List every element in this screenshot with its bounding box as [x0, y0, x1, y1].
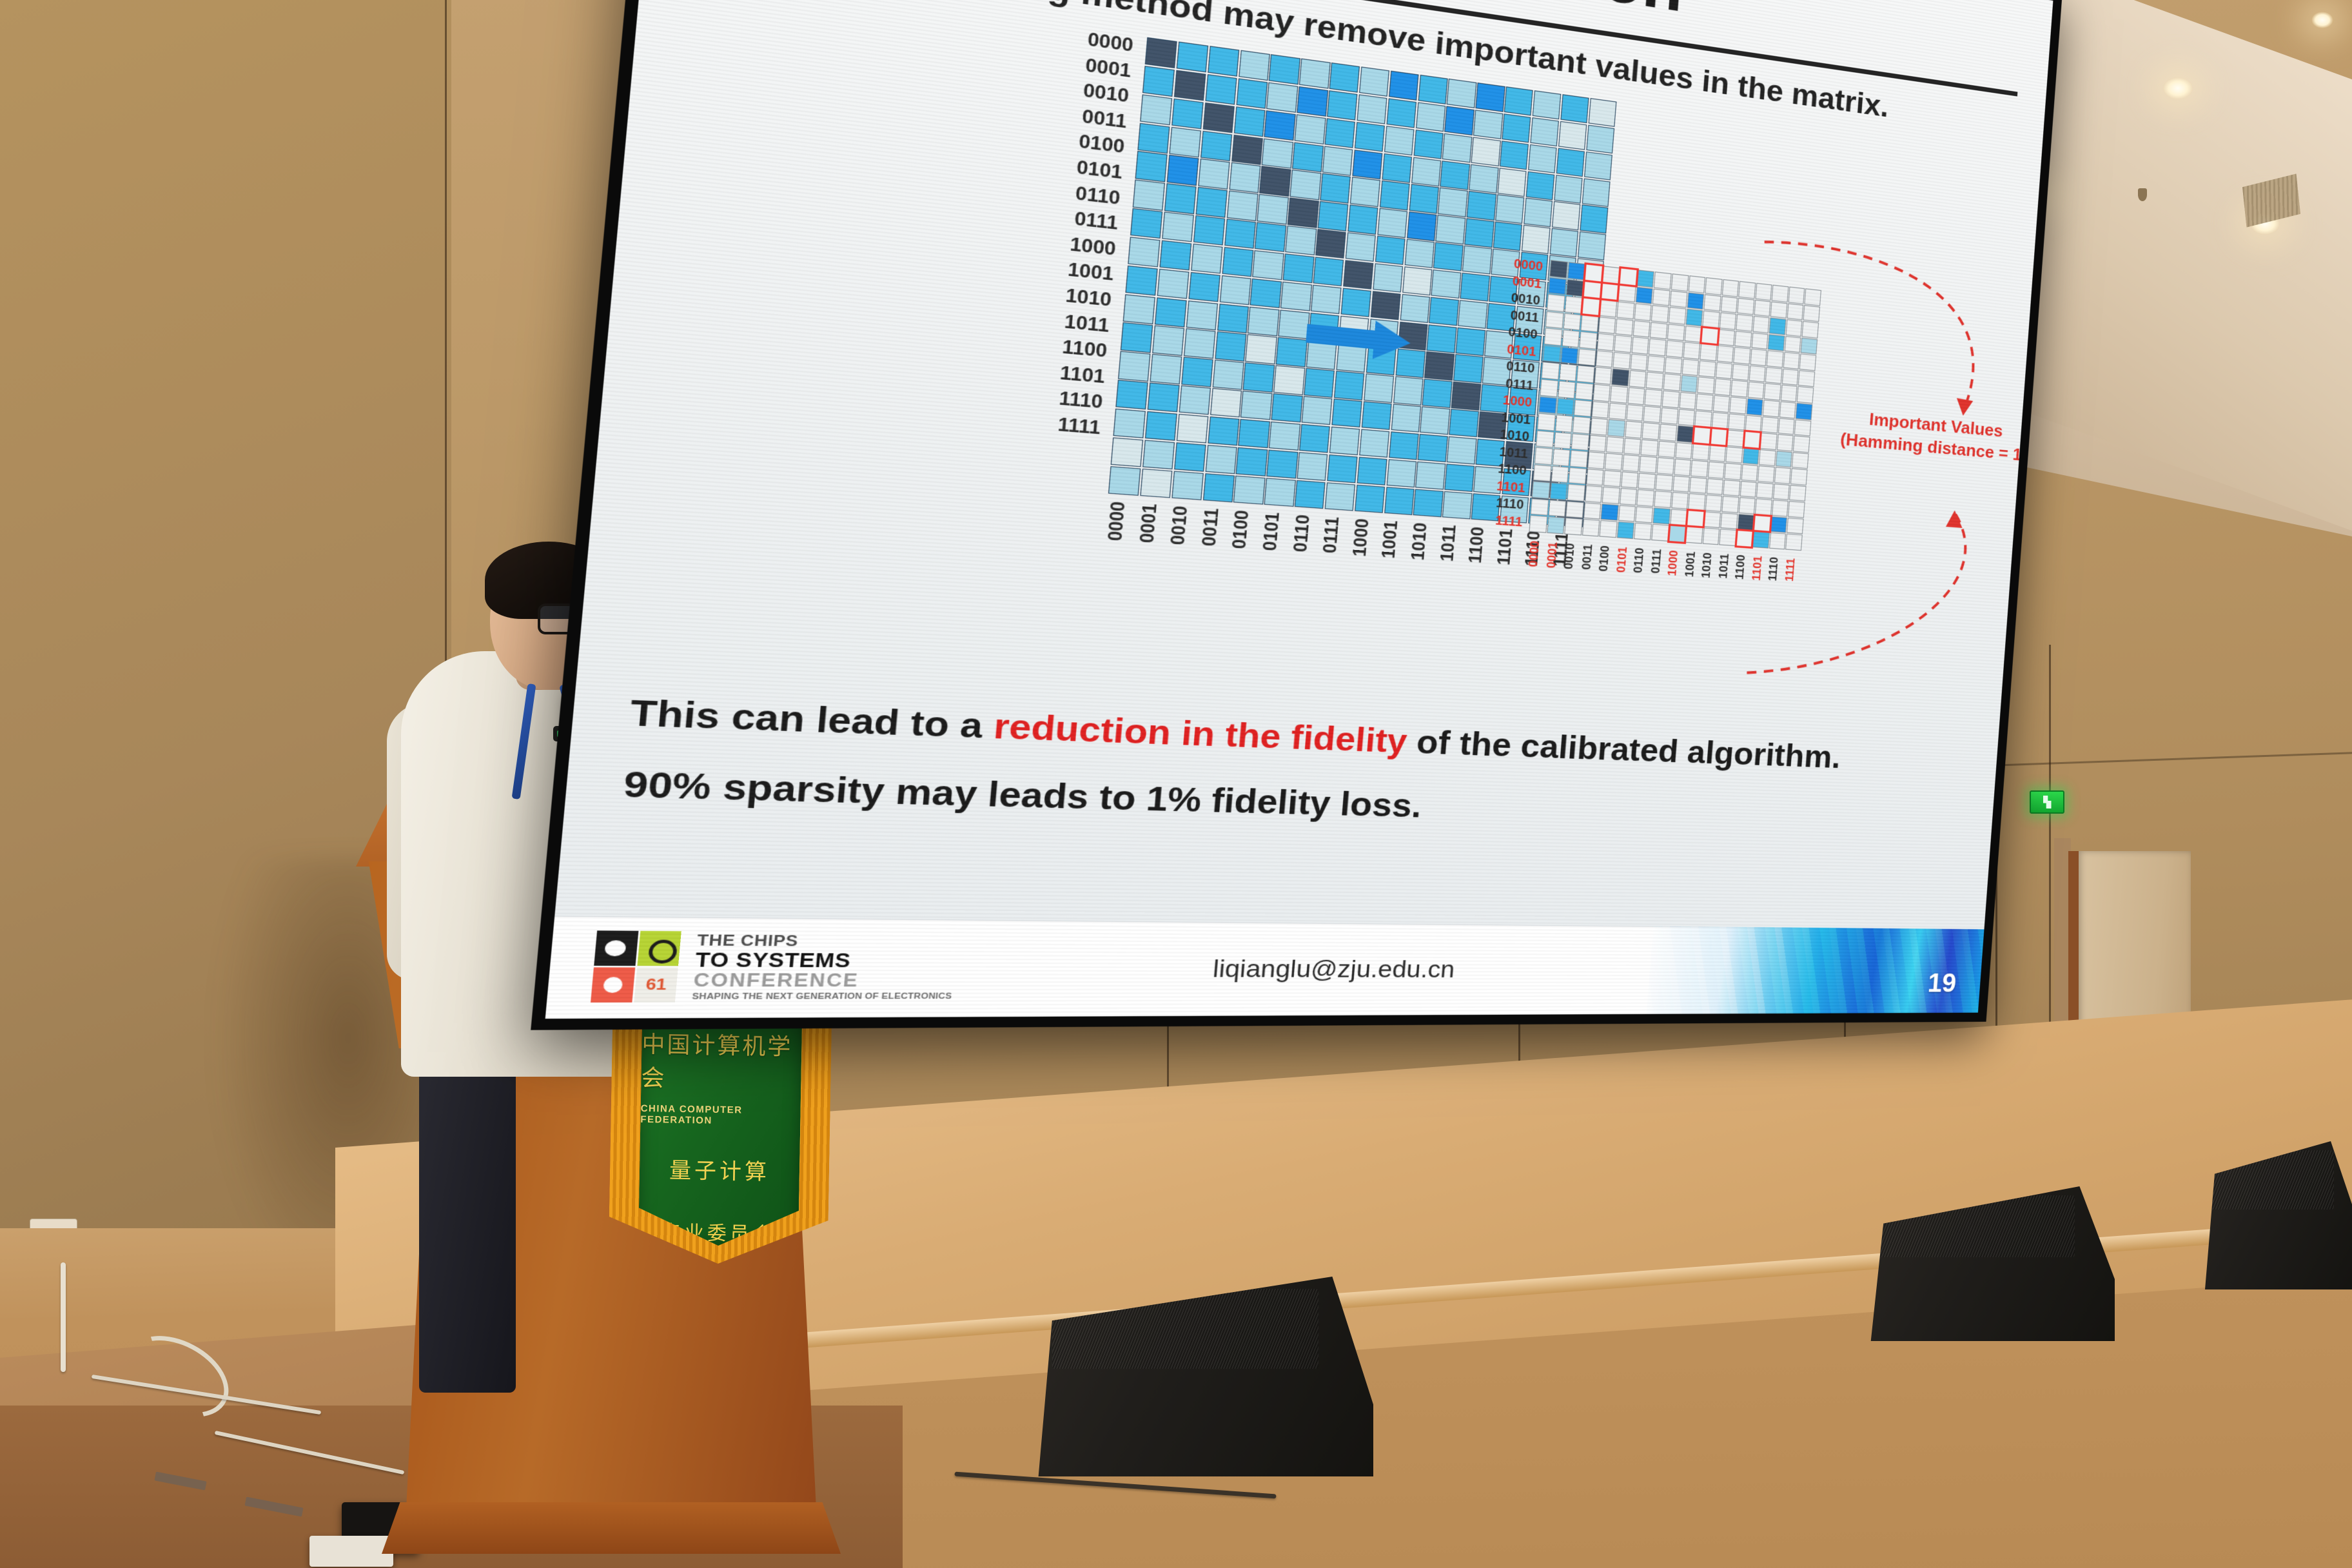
matrix-cell — [1471, 137, 1501, 166]
matrix-cell — [1637, 489, 1655, 507]
matrix-axis-label: 0011 — [1476, 305, 1540, 324]
matrix-cell — [1500, 141, 1529, 170]
matrix-cell — [1123, 294, 1156, 324]
body-text-highlight: reduction in the fidelity — [992, 706, 1409, 760]
matrix-cell — [1607, 419, 1625, 436]
conference-room: 南 京 大 学 CCF 中国计算机学会 CHINA COMPUTER FEDER… — [0, 0, 2352, 1568]
matrix-cell — [1422, 379, 1452, 408]
matrix-cell — [1636, 286, 1654, 304]
matrix-cell — [1393, 377, 1424, 406]
matrix-cell — [1436, 215, 1465, 244]
logo-tile-red — [591, 967, 635, 1003]
matrix-cell — [1609, 402, 1627, 420]
matrix-cell — [1322, 146, 1353, 176]
matrix-cell — [1118, 351, 1151, 382]
matrix-cell — [1792, 452, 1808, 469]
matrix-cell — [1680, 375, 1698, 393]
matrix-cell — [1738, 281, 1756, 299]
matrix-cell — [1334, 371, 1365, 400]
matrix-cell — [1733, 347, 1750, 364]
matrix-cell — [1279, 309, 1309, 339]
matrix-cell — [1548, 277, 1566, 295]
matrix-cell — [1578, 231, 1606, 260]
matrix-cell — [1588, 98, 1616, 127]
matrix-cell — [1669, 307, 1686, 324]
matrix-cell — [1584, 152, 1612, 181]
matrix-cell — [1174, 70, 1206, 101]
matrix-cell — [1571, 433, 1589, 451]
matrix-axis-label: 1010 — [1017, 282, 1112, 309]
matrix-cell — [1424, 351, 1454, 380]
matrix-cell — [1641, 439, 1658, 456]
matrix-cell — [1777, 434, 1794, 451]
matrix-cell — [1549, 260, 1567, 278]
matrix-cell — [1622, 455, 1640, 472]
matrix-cell — [1212, 360, 1244, 389]
body-text-suffix: of the calibrated algorithm. — [1406, 722, 1842, 774]
matrix-cell — [1560, 347, 1578, 365]
matrix-axis-label: 1100 — [1462, 526, 1496, 611]
matrix-cell — [1164, 183, 1197, 214]
matrix-cell — [1556, 148, 1585, 177]
matrix-cell — [1548, 500, 1566, 517]
matrix-cell — [1697, 377, 1714, 395]
matrix-cell — [1297, 452, 1328, 481]
matrix-cell — [1260, 166, 1291, 197]
pennant-topic-cn: 量子计算 — [669, 1153, 770, 1186]
matrix-cell — [1416, 102, 1445, 132]
matrix-axis-label: 0101 — [1029, 153, 1123, 182]
matrix-cell — [1413, 489, 1444, 517]
matrix-cell — [1732, 364, 1749, 381]
matrix-cell — [1217, 303, 1249, 333]
matrix-cell — [1433, 242, 1463, 271]
matrix-cell — [1603, 470, 1622, 487]
matrix-cell — [1357, 94, 1387, 124]
matrix-cell — [1350, 177, 1380, 207]
matrix-cell — [1623, 438, 1641, 455]
matrix-cell — [1700, 344, 1717, 361]
matrix-axis-label: 1110 — [1008, 386, 1103, 412]
matrix-cell — [1495, 195, 1524, 224]
matrix-cell — [1580, 204, 1608, 233]
matrix-cell — [1469, 164, 1498, 193]
matrix-cell — [1688, 275, 1705, 293]
matrix-cell — [1297, 86, 1328, 117]
matrix-cell — [1133, 180, 1166, 211]
matrix-cell — [1226, 191, 1258, 221]
matrix-cell — [1729, 397, 1747, 414]
matrix-cell — [1341, 288, 1372, 317]
matrix-cell — [1669, 525, 1686, 543]
matrix-cell — [1634, 303, 1652, 321]
matrix-cell — [1181, 357, 1213, 387]
matrix-cell — [1184, 329, 1216, 358]
ceiling-light — [2163, 77, 2193, 99]
matrix-cell — [1559, 364, 1577, 382]
matrix-cell — [1651, 524, 1669, 542]
matrix-cell — [1176, 414, 1208, 444]
matrix-cell — [1420, 406, 1450, 435]
matrix-cell — [1543, 345, 1561, 363]
matrix-cell — [1440, 161, 1470, 190]
matrix-cell — [1205, 445, 1237, 475]
matrix-cell — [1299, 424, 1330, 453]
matrix-axis-label: 0010 — [1035, 75, 1130, 106]
matrix-cell — [1712, 395, 1730, 413]
matrix-cell — [1115, 380, 1148, 410]
matrix-axis-label: 1001 — [1020, 256, 1115, 284]
matrix-cell — [1665, 357, 1682, 375]
matrix-cell — [1586, 124, 1614, 153]
matrix-cell — [1654, 271, 1671, 289]
matrix-cell — [1125, 266, 1158, 296]
matrix-cell — [1269, 54, 1300, 85]
matrix-cell — [1553, 431, 1571, 449]
matrix-cell — [1236, 447, 1268, 476]
matrix-cell — [1714, 378, 1731, 396]
matrix-cell — [1538, 396, 1556, 414]
sprinkler-icon — [2138, 188, 2147, 201]
matrix-cell — [1357, 456, 1387, 485]
matrix-cell — [1409, 184, 1439, 214]
matrix-axis-label: 1010 — [1404, 522, 1439, 607]
matrix-cell — [1541, 362, 1559, 380]
matrix-cell — [1632, 320, 1651, 338]
matrix-cell — [1585, 264, 1603, 282]
matrix-cell — [1536, 430, 1554, 448]
matrix-axis-label: 0000 — [1040, 24, 1134, 55]
matrix-cell — [1233, 475, 1265, 504]
matrix-cell — [1318, 201, 1349, 231]
matrix-cell — [1347, 204, 1378, 234]
matrix-cell — [1391, 404, 1421, 433]
matrix-cell — [1273, 366, 1305, 395]
matrix-cell — [1526, 171, 1555, 200]
matrix-cell — [1142, 440, 1175, 469]
matrix-cell — [1320, 173, 1351, 203]
matrix-cell — [1718, 329, 1735, 346]
matrix-cell — [1248, 306, 1279, 336]
matrix-cell — [1637, 269, 1655, 288]
matrix-cell — [1567, 484, 1585, 502]
matrix-axis-label: 0110 — [1026, 179, 1121, 208]
matrix-cell — [1595, 350, 1613, 368]
matrix-cell — [1719, 312, 1736, 329]
matrix-cell — [1299, 59, 1330, 89]
matrix-cell — [1540, 379, 1558, 397]
matrix-cell — [1647, 355, 1665, 373]
matrix-cell — [1210, 388, 1241, 418]
matrix-cell — [1688, 493, 1705, 511]
matrix-cell — [1427, 324, 1456, 353]
matrix-axis-label: 1011 — [1464, 442, 1528, 460]
matrix-cell — [1602, 487, 1620, 504]
matrix-cell — [1614, 335, 1632, 353]
matrix-cell — [1597, 333, 1615, 351]
matrix-cell — [1737, 297, 1754, 315]
matrix-cell — [1534, 447, 1553, 464]
matrix-cell — [1524, 198, 1553, 227]
matrix-axis-label: 0110 — [1471, 357, 1535, 375]
matrix-cell — [1618, 284, 1636, 302]
matrix-cell — [1166, 155, 1199, 186]
matrix-cell — [1313, 257, 1344, 286]
matrix-cell — [1661, 390, 1679, 407]
matrix-cell — [1295, 114, 1326, 144]
matrix-cell — [1716, 346, 1734, 363]
matrix-cell — [1759, 449, 1776, 467]
matrix-cell — [1709, 445, 1726, 462]
matrix-cell — [1179, 386, 1211, 415]
matrix-cell — [1130, 208, 1163, 239]
matrix-axis-label: 1101 — [1462, 476, 1525, 494]
matrix-axis-label: 1110 — [1460, 494, 1524, 511]
matrix-cell — [1594, 367, 1612, 385]
matrix-cell — [1195, 187, 1228, 217]
matrix-cell — [1605, 453, 1623, 470]
slide-body-line-1: This can lead to a reduction in the fide… — [628, 691, 1842, 775]
matrix-cell — [1549, 483, 1567, 500]
matrix-cell — [1288, 198, 1318, 228]
matrix-cell — [1659, 424, 1676, 441]
logo-edition-number: 61 — [645, 975, 667, 994]
matrix-cell — [1269, 422, 1300, 451]
matrix-cell — [1629, 370, 1647, 387]
matrix-cell — [1137, 122, 1170, 153]
matrix-cell — [1706, 478, 1723, 495]
matrix-cell — [1638, 473, 1656, 490]
matrix-cell — [1758, 465, 1775, 482]
conference-logo-mark-icon: 61 — [591, 930, 687, 1004]
matrix-cell — [1721, 496, 1739, 513]
matrix-cell — [1674, 458, 1691, 476]
matrix-cell — [1290, 170, 1321, 200]
matrix-cell — [1565, 501, 1583, 518]
matrix-cell — [1558, 380, 1576, 398]
matrix-cell — [1634, 523, 1652, 540]
logo-tile-edition: 61 — [634, 968, 678, 1003]
matrix-cell — [1710, 428, 1727, 446]
matrix-cell — [1600, 520, 1618, 538]
logo-line-3: CONFERENCE — [692, 971, 954, 991]
matrix-cell — [1663, 373, 1681, 391]
matrix-cell — [1636, 506, 1654, 524]
conference-logo-text: THE CHIPS TO SYSTEMS CONFERENCE SHAPING … — [692, 933, 957, 1003]
matrix-cell — [1582, 298, 1600, 316]
matrix-cell — [1382, 153, 1412, 182]
matrix-cell — [1547, 294, 1565, 312]
matrix-cell — [1493, 222, 1522, 251]
matrix-cell — [1418, 75, 1447, 104]
matrix-cell — [1696, 393, 1713, 411]
matrix-cell — [1145, 37, 1177, 69]
matrix-cell — [1630, 353, 1648, 371]
matrix-cell — [1384, 487, 1415, 515]
matrix-cell — [1522, 225, 1551, 254]
matrix-cell — [1239, 419, 1270, 449]
matrix-cell — [1643, 406, 1661, 423]
matrix-cell — [1266, 449, 1298, 478]
matrix-cell — [1551, 465, 1569, 483]
matrix-cell — [1292, 142, 1323, 172]
matrix-cell — [1667, 324, 1685, 341]
matrix-cell — [1283, 253, 1314, 283]
speaker-legs — [419, 1032, 516, 1393]
matrix-axis-label: 0100 — [1225, 510, 1261, 598]
matrix-cell — [1140, 94, 1172, 125]
matrix-cell — [1598, 317, 1616, 335]
matrix-cell — [1373, 263, 1403, 293]
matrix-cell — [1407, 211, 1437, 241]
matrix-cell — [1157, 269, 1189, 299]
matrix-cell — [1617, 522, 1635, 539]
matrix-cell — [1618, 505, 1636, 522]
matrix-axis-label: 1001 — [1375, 520, 1409, 606]
matrix-cell — [1552, 449, 1570, 466]
matrix-cell — [1736, 314, 1753, 331]
matrix-cell — [1325, 482, 1356, 511]
matrix-cell — [1271, 393, 1303, 422]
matrix-cell — [1202, 103, 1235, 133]
matrix-cell — [1790, 468, 1807, 485]
matrix-cell — [1135, 151, 1168, 182]
matrix-cell — [1191, 244, 1223, 274]
matrix-axis-label: 1011 — [1015, 308, 1110, 336]
matrix-cell — [1162, 211, 1194, 242]
matrix-cell — [1329, 427, 1360, 456]
floor-cable — [61, 1262, 66, 1372]
matrix-cell — [1703, 511, 1721, 529]
matrix-cell — [1400, 294, 1430, 323]
matrix-cell — [1302, 396, 1333, 425]
matrix-cell — [1445, 106, 1475, 135]
matrix-cell — [1250, 279, 1282, 308]
body-text-prefix: This can lead to a — [629, 691, 996, 745]
matrix-cell — [1592, 384, 1611, 401]
matrix-cell — [1371, 291, 1401, 320]
matrix-cell — [1174, 442, 1206, 472]
matrix-cell — [1431, 269, 1461, 299]
matrix-cell — [1720, 513, 1738, 529]
matrix-cell — [1222, 247, 1253, 277]
matrix-cell — [1229, 162, 1260, 193]
matrix-axis-label: 0111 — [1470, 373, 1534, 391]
matrix-cell — [1774, 467, 1791, 484]
matrix-cell — [1231, 134, 1263, 164]
matrix-axis-label: 1100 — [1463, 460, 1527, 477]
pennant-org-en: CHINA COMPUTER FEDERATION — [640, 1103, 801, 1128]
matrix-cell — [1616, 318, 1634, 336]
matrix-axis-label: 1000 — [1022, 230, 1117, 259]
matrix-cell — [1705, 277, 1722, 295]
matrix-cell — [1552, 201, 1581, 230]
matrix-cell — [1574, 399, 1592, 417]
matrix-cell — [1671, 273, 1689, 291]
matrix-cell — [1176, 41, 1208, 72]
matrix-cell — [1380, 181, 1410, 210]
matrix-cell — [1555, 415, 1573, 433]
matrix-cell — [1600, 300, 1618, 318]
matrix-cell — [1108, 466, 1141, 496]
matrix-cell — [1233, 106, 1265, 137]
matrix-cell — [1612, 352, 1631, 370]
matrix-cell — [1386, 98, 1416, 128]
matrix-cell — [1352, 150, 1382, 179]
matrix-axis-label: 1111 — [1006, 411, 1101, 438]
podium-base — [382, 1502, 841, 1554]
matrix-axis-label: 1010 — [1465, 425, 1529, 443]
matrix-axis-label: 0101 — [1255, 512, 1291, 599]
matrix-cell — [1304, 368, 1335, 397]
matrix-cell — [1411, 157, 1442, 186]
matrix-cell — [1155, 297, 1187, 328]
matrix-cell — [1734, 331, 1752, 348]
matrix-cell — [1698, 360, 1716, 378]
matrix-cell — [1649, 338, 1666, 356]
conference-logo: 61 THE CHIPS TO SYSTEMS CONFERENCE SHAPI… — [591, 930, 957, 1004]
matrix-cell — [1627, 387, 1645, 404]
matrix-cell — [1528, 144, 1557, 173]
matrix-cell — [1656, 457, 1674, 475]
matrix-cell — [1660, 407, 1678, 424]
matrix-axis-label: 0101 — [1473, 339, 1536, 358]
matrix-cell — [1676, 426, 1694, 443]
matrix-axis-label: 0001 — [1478, 271, 1542, 290]
matrix-cell — [1200, 130, 1233, 161]
ceiling-light — [2311, 12, 2333, 28]
matrix-cell — [1331, 398, 1362, 427]
matrix-cell — [1590, 418, 1608, 435]
matrix-cell — [1361, 401, 1391, 430]
matrix-cell — [1404, 239, 1435, 269]
matrix-cell — [1111, 437, 1144, 467]
matrix-cell — [1193, 215, 1225, 246]
power-strip — [309, 1536, 393, 1567]
matrix-cell — [1694, 410, 1712, 427]
matrix-cell — [1575, 382, 1593, 400]
matrix-cell — [1327, 90, 1358, 121]
matrix-cell — [1589, 435, 1607, 452]
matrix-cell — [1707, 462, 1725, 479]
matrix-cell — [1719, 529, 1736, 546]
matrix-cell — [1473, 110, 1503, 139]
matrix-cell — [1142, 66, 1175, 97]
matrix-cell — [1384, 126, 1415, 155]
slide-footer: 61 THE CHIPS TO SYSTEMS CONFERENCE SHAPI… — [545, 916, 1984, 1019]
matrix-cell — [1736, 531, 1753, 547]
matrix-cell — [1355, 484, 1385, 513]
matrix-cell — [1587, 451, 1605, 469]
matrix-cell — [1585, 485, 1603, 503]
matrix-cell — [1255, 222, 1286, 253]
matrix-cell — [1620, 488, 1638, 505]
matrix-cell — [1579, 331, 1597, 349]
matrix-cell — [1416, 462, 1446, 490]
matrix-cell — [1547, 516, 1565, 534]
matrix-cell — [1159, 240, 1191, 270]
matrix-cell — [1560, 94, 1589, 123]
matrix-cell — [1343, 260, 1374, 289]
matrix-cell — [1537, 413, 1555, 431]
matrix-cell — [1617, 301, 1635, 319]
matrix-cell — [1264, 110, 1296, 141]
matrix-cell — [1728, 413, 1745, 431]
matrix-cell — [1754, 515, 1771, 532]
matrix-cell — [1602, 266, 1620, 284]
matrix-cell — [1720, 296, 1738, 313]
matrix-cell — [1611, 369, 1629, 386]
